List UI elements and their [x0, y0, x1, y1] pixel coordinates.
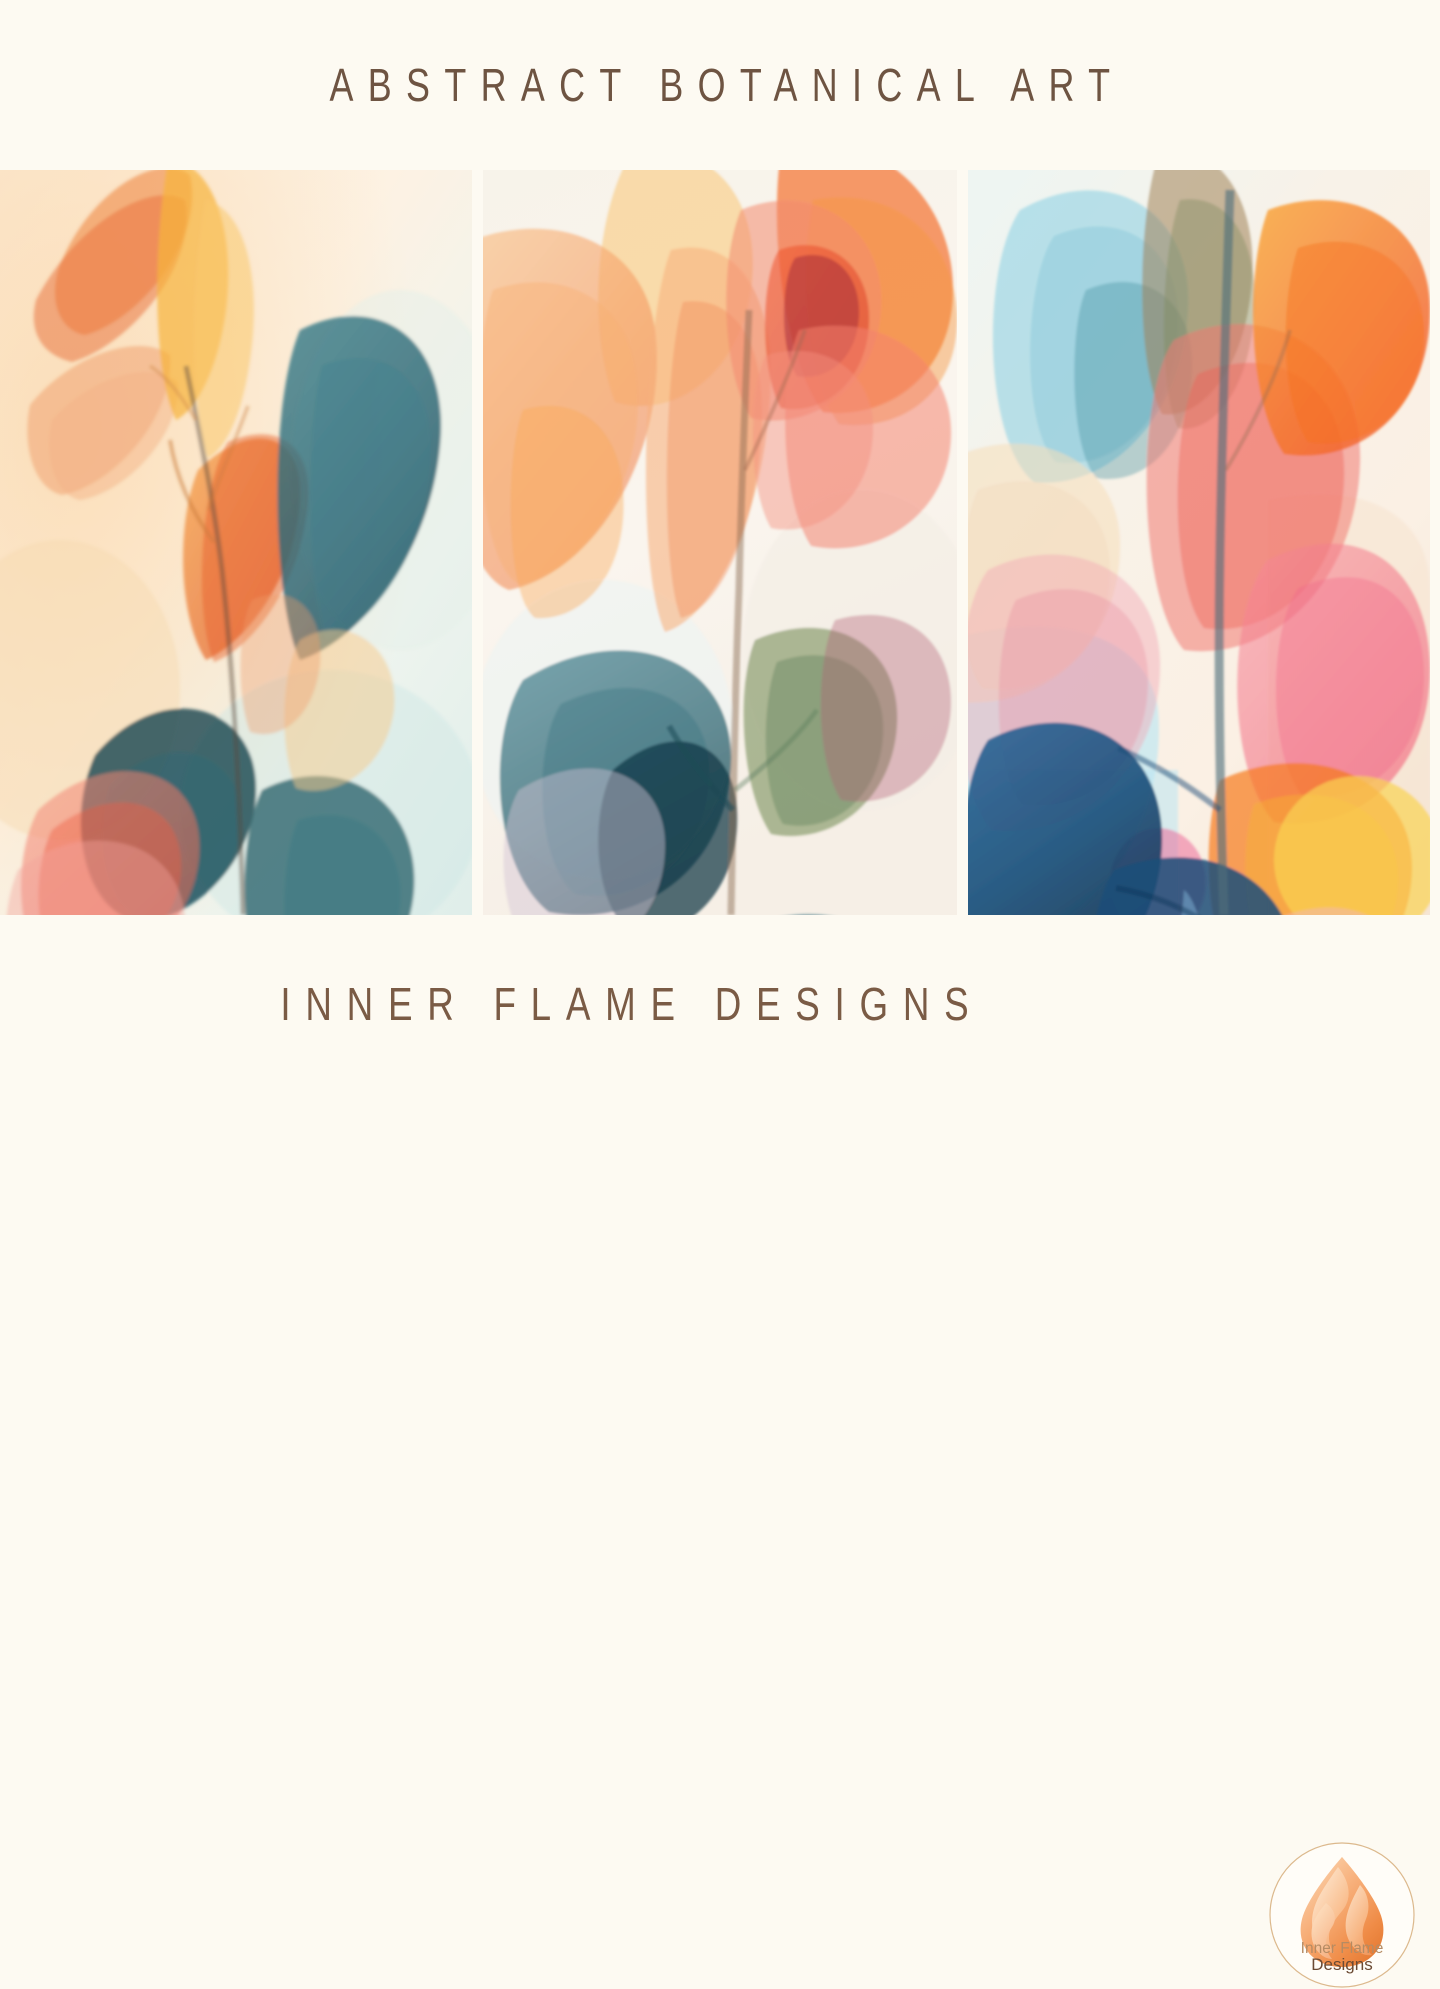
poster-canvas: ABSTRACT BOTANICAL ART [0, 0, 1440, 1093]
brand-logo[interactable]: Inner Flame Designs [1268, 1841, 1416, 1989]
panel-1-artwork [0, 170, 472, 915]
header-band: ABSTRACT BOTANICAL ART [0, 0, 1440, 170]
art-panel-3[interactable] [968, 170, 1430, 915]
panel-2-artwork [483, 170, 957, 915]
brand-name-wrap: INNER FLAME DESIGNS [0, 915, 1250, 1093]
logo-badge-svg: Inner Flame Designs [1268, 1841, 1416, 1989]
page-title: ABSTRACT BOTANICAL ART [315, 58, 1124, 112]
logo-line-2: Designs [1311, 1955, 1372, 1974]
art-panel-2[interactable] [483, 170, 957, 915]
gallery-row [0, 170, 1440, 915]
footer-band: INNER FLAME DESIGNS [0, 915, 1440, 1093]
panel-3-artwork [968, 170, 1430, 915]
art-panel-1[interactable] [0, 170, 472, 915]
brand-name: INNER FLAME DESIGNS [266, 977, 984, 1031]
